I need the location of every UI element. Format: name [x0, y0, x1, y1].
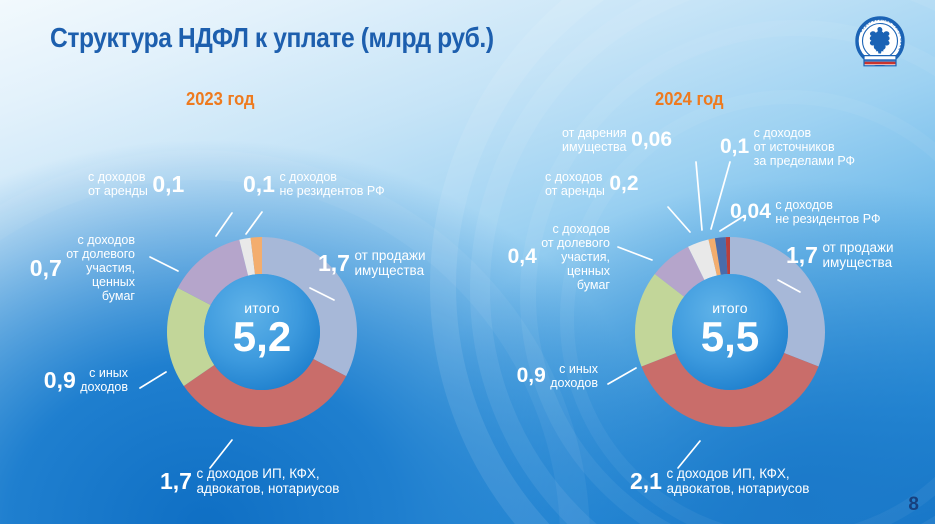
- callout-value: 0,06: [631, 128, 672, 152]
- callout-2024-foreign: 0,1 с доходовот источниковза пределами Р…: [720, 126, 855, 168]
- callout-2023-rental: с доходовот аренды 0,1: [88, 170, 184, 198]
- callout-value: 1,7: [786, 242, 818, 269]
- callout-2024-entrepreneur: 2,1 с доходов ИП, КФХ,адвокатов, нотариу…: [630, 466, 809, 496]
- callout-label: с доходовот аренды: [545, 170, 605, 198]
- slide-canvas: Структура НДФЛ к уплате (млрд руб.) Ф Е …: [0, 0, 935, 524]
- callout-2024-nonresident: 0,04 с доходовне резидентов РФ: [730, 198, 881, 226]
- callout-2024-propertysale: 1,7 от продажиимущества: [786, 240, 906, 270]
- callout-2024-gift: от даренияимущества 0,06: [562, 126, 672, 154]
- callout-label: с доходовот долевогоучастия,ценныхбумаг: [66, 233, 135, 303]
- callout-label: с доходовне резидентов РФ: [775, 198, 880, 226]
- callout-2023-propertysale: 1,7 от продажиимущества: [318, 248, 438, 278]
- callout-2024-equity: 0,4 с доходовот долевогоучастия,ценныхбу…: [482, 222, 610, 292]
- callout-label: с доходовот аренды: [88, 170, 148, 198]
- callout-value: 0,04: [730, 200, 771, 224]
- chart-title-2024: 2024 год: [655, 89, 724, 110]
- callout-label: с иныхдоходов: [550, 362, 598, 390]
- callout-2023-other: 0,9 с иныхдоходов: [18, 366, 128, 394]
- callout-2024-other: 0,9 с иныхдоходов: [490, 362, 598, 390]
- page-number: 8: [908, 494, 919, 516]
- callout-value: 0,1: [720, 135, 749, 159]
- callout-label: с доходовне резидентов РФ: [279, 170, 384, 198]
- callout-value: 2,1: [630, 468, 662, 495]
- callout-label: с доходов ИП, КФХ,адвокатов, нотариусов: [666, 466, 809, 496]
- callout-value: 1,7: [160, 468, 192, 495]
- callout-value: 0,1: [243, 171, 275, 198]
- callout-value: 0,9: [517, 364, 546, 388]
- callout-label: с доходовот источниковза пределами РФ: [754, 126, 855, 168]
- callout-value: 0,7: [30, 255, 62, 282]
- chart-title-2023: 2023 год: [186, 89, 255, 110]
- callout-value: 0,9: [44, 367, 76, 394]
- page-title: Структура НДФЛ к уплате (млрд руб.): [50, 22, 494, 54]
- callout-value: 0,1: [152, 171, 184, 198]
- callout-value: 1,7: [318, 250, 350, 277]
- callout-value: 0,4: [508, 245, 537, 269]
- fns-russia-emblem-icon: Ф Е Д Е Р А Л Ь Н А Я Н А Л О Г О В А Я: [853, 14, 907, 74]
- callout-label: с доходовот долевогоучастия,ценныхбумаг: [541, 222, 610, 292]
- callout-value: 0,2: [609, 172, 638, 196]
- callout-label: с иныхдоходов: [80, 366, 128, 394]
- callout-label: от продажиимущества: [354, 248, 425, 278]
- callout-label: от продажиимущества: [822, 240, 893, 270]
- callout-label: с доходов ИП, КФХ,адвокатов, нотариусов: [196, 466, 339, 496]
- callout-2023-equity: 0,7 с доходовот долевогоучастия,ценныхбу…: [10, 233, 135, 303]
- callout-2024-rental: с доходовот аренды 0,2: [545, 170, 639, 198]
- callout-2023-entrepreneur: 1,7 с доходов ИП, КФХ,адвокатов, нотариу…: [160, 466, 339, 496]
- callout-label: от даренияимущества: [562, 126, 627, 154]
- callout-2023-nonresident: 0,1 с доходовне резидентов РФ: [243, 170, 385, 198]
